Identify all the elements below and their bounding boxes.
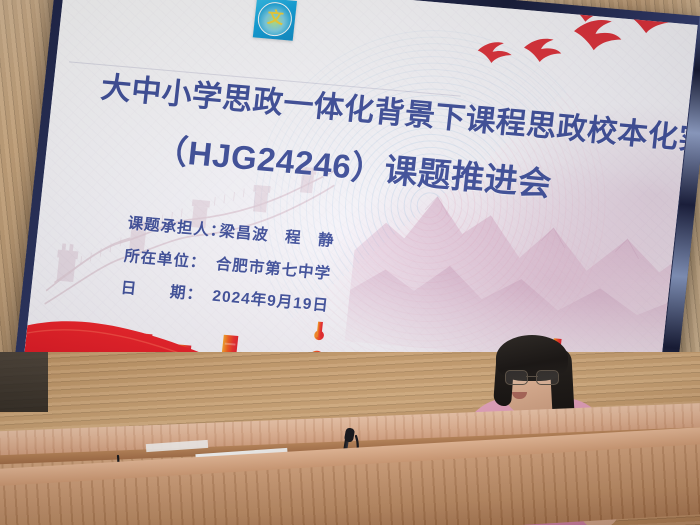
glasses-icon: [505, 370, 559, 383]
stage-shadow-corner: [0, 352, 48, 412]
photo-scene: 文 大中小学思政一体化背景下课程思政校本化实践研究 （HJG24246）课题推进…: [0, 0, 700, 525]
emblem-ring: 文: [256, 1, 294, 38]
school-emblem-logo: 文: [253, 0, 297, 41]
